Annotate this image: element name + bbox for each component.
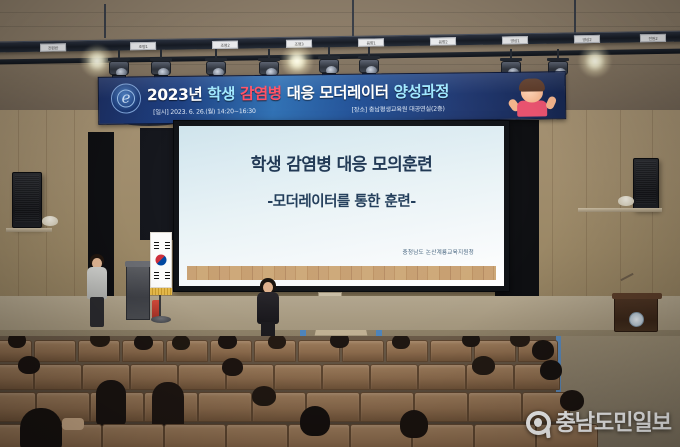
banner-title-course: 양성과정 [394,83,450,102]
watermark-text: 충남도민일보 [556,412,671,436]
truss-tag: 전원2 [640,34,666,42]
lectern-emblem-icon [629,312,644,327]
projection-screen-frame: 학생 감염병 대응 모의훈련 -모더레이터를 통한 훈련- 충청남도 논산계룡교… [173,120,510,292]
event-banner: 2023년 학생 감염병 대응 모더레이터 양성과정 [일시] 2023. 6.… [98,71,567,125]
banner-title-response: 대응 [287,84,320,102]
stage-light-glow [280,44,314,78]
wall-speaker-right [633,158,659,210]
audience-head [560,390,584,411]
truss-hanger-rod [352,0,354,40]
audience-seat [274,364,322,390]
audience-head [268,336,286,349]
wall-downlight-right [618,196,634,206]
slide-subtitle: -모더레이터를 통한 훈련- [179,190,504,211]
flag-fringe [150,288,172,295]
stage-light-glow [578,44,612,78]
audience-seat [102,424,164,447]
audience-head [252,386,276,406]
audience-head [20,408,62,447]
press-watermark: 충남도민일보 [526,411,671,437]
audience-head [400,410,428,438]
korean-flag [148,232,174,328]
truss-tag: 영상1 [502,36,528,44]
truss-tag: 영상2 [574,35,600,43]
audience-head [392,336,410,349]
truss-tag: 전원반 [40,43,66,51]
audience-seat [34,340,76,362]
audience-seat [468,392,522,422]
audience-seat [34,364,82,390]
audience-head [472,356,495,375]
truss-tag: 음향2 [430,37,456,45]
presenter-standing-center [254,278,282,344]
audience-head [18,356,40,374]
banner-subline: [일시] 2023. 6. 26.(월) 14:20~16:30 [장소] 충남… [153,103,509,119]
audience-seat [322,364,370,390]
newspaper-logo-icon [526,411,551,437]
audience-head [532,340,554,360]
audience-head [540,360,562,380]
audience-seat [198,392,252,422]
banner-datetime: [일시] 2023. 6. 26.(월) 14:20~16:30 [153,106,256,119]
audience-seat [226,424,288,447]
auditorium-photo: 전원반 조명1 조명2 조명3 음향1 음향2 영상1 영상2 전원2 [0,0,680,447]
wall-speaker-left [12,172,42,228]
audience-head [152,382,184,430]
stage-av-podium [126,264,150,320]
banner-title-moderator: 모더레이터 [319,83,394,102]
banner-title-infectious: 감염병 [240,85,287,104]
slide-wood-floor-image [187,266,496,280]
audience-seat [164,424,226,447]
lectern-top [612,293,662,299]
truss-tag: 조명1 [130,42,156,50]
banner-title: 2023년 학생 감염병 대응 모더레이터 양성과정 [147,80,507,106]
stage-door-dark [140,128,174,240]
wooden-lectern [614,296,658,332]
audience-head [172,336,190,350]
audience-seat [418,364,466,390]
projection-screen: 학생 감염병 대응 모의훈련 -모더레이터를 통한 훈련- 충청남도 논산계룡교… [179,126,504,286]
audience-head [462,336,480,347]
truss-hanger-rod [574,0,576,34]
banner-emblem-icon [111,83,141,113]
presenter-standing-left [84,254,110,330]
truss-hanger-rod [104,4,106,38]
audience-head [134,336,153,350]
audience-head [96,380,126,426]
presenter-top [257,292,279,324]
presenter-trousers [90,297,104,327]
audience-seat [178,364,226,390]
audience-head [330,336,349,348]
slide-organization: 충청남도 논산계룡교육지원청 [403,248,474,256]
audience-head [218,336,237,349]
audience-head [222,358,243,376]
truss-tag: 음향1 [358,38,384,46]
flag-stand [151,316,171,323]
banner-title-year: 2023년 [147,86,208,105]
banner-title-student: 학생 [207,85,240,103]
presenter-blazer [87,267,107,299]
audience-head [8,336,26,348]
truss-tag: 조명2 [212,41,238,49]
audience-head [300,406,330,436]
audience-seat [370,364,418,390]
wall-downlight-left [42,216,58,226]
banner-mascot-icon [507,76,562,119]
flag-cloth [150,232,172,288]
speaker-shelf-left [6,228,52,232]
slide-title: 학생 감염병 대응 모의훈련 [179,150,504,175]
taeguk-symbol [156,255,167,266]
speaker-shelf-right [578,208,662,212]
banner-location: [장소] 충남평생교육원 대공연실(2층) [352,104,445,117]
audience-hand [62,418,84,430]
